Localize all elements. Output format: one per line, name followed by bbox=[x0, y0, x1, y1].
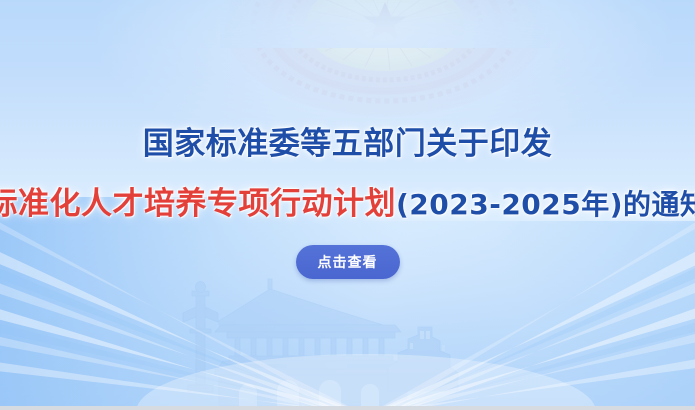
headline-period-suffix: (2023-2025年)的通知 bbox=[396, 188, 695, 221]
headline-line-1: 国家标准委等五部门关于印发 bbox=[143, 118, 553, 163]
headline-policy-name: 标准化人才培养专项行动计划 bbox=[0, 186, 396, 222]
notice-banner: 国家标准委等五部门关于印发 标准化人才培养专项行动计划(2023-2025年)的… bbox=[0, 0, 695, 410]
headline-line-2: 标准化人才培养专项行动计划(2023-2025年)的通知 bbox=[0, 178, 695, 223]
view-detail-button[interactable]: 点击查看 bbox=[296, 245, 400, 279]
banner-content: 国家标准委等五部门关于印发 标准化人才培养专项行动计划(2023-2025年)的… bbox=[0, 0, 695, 410]
